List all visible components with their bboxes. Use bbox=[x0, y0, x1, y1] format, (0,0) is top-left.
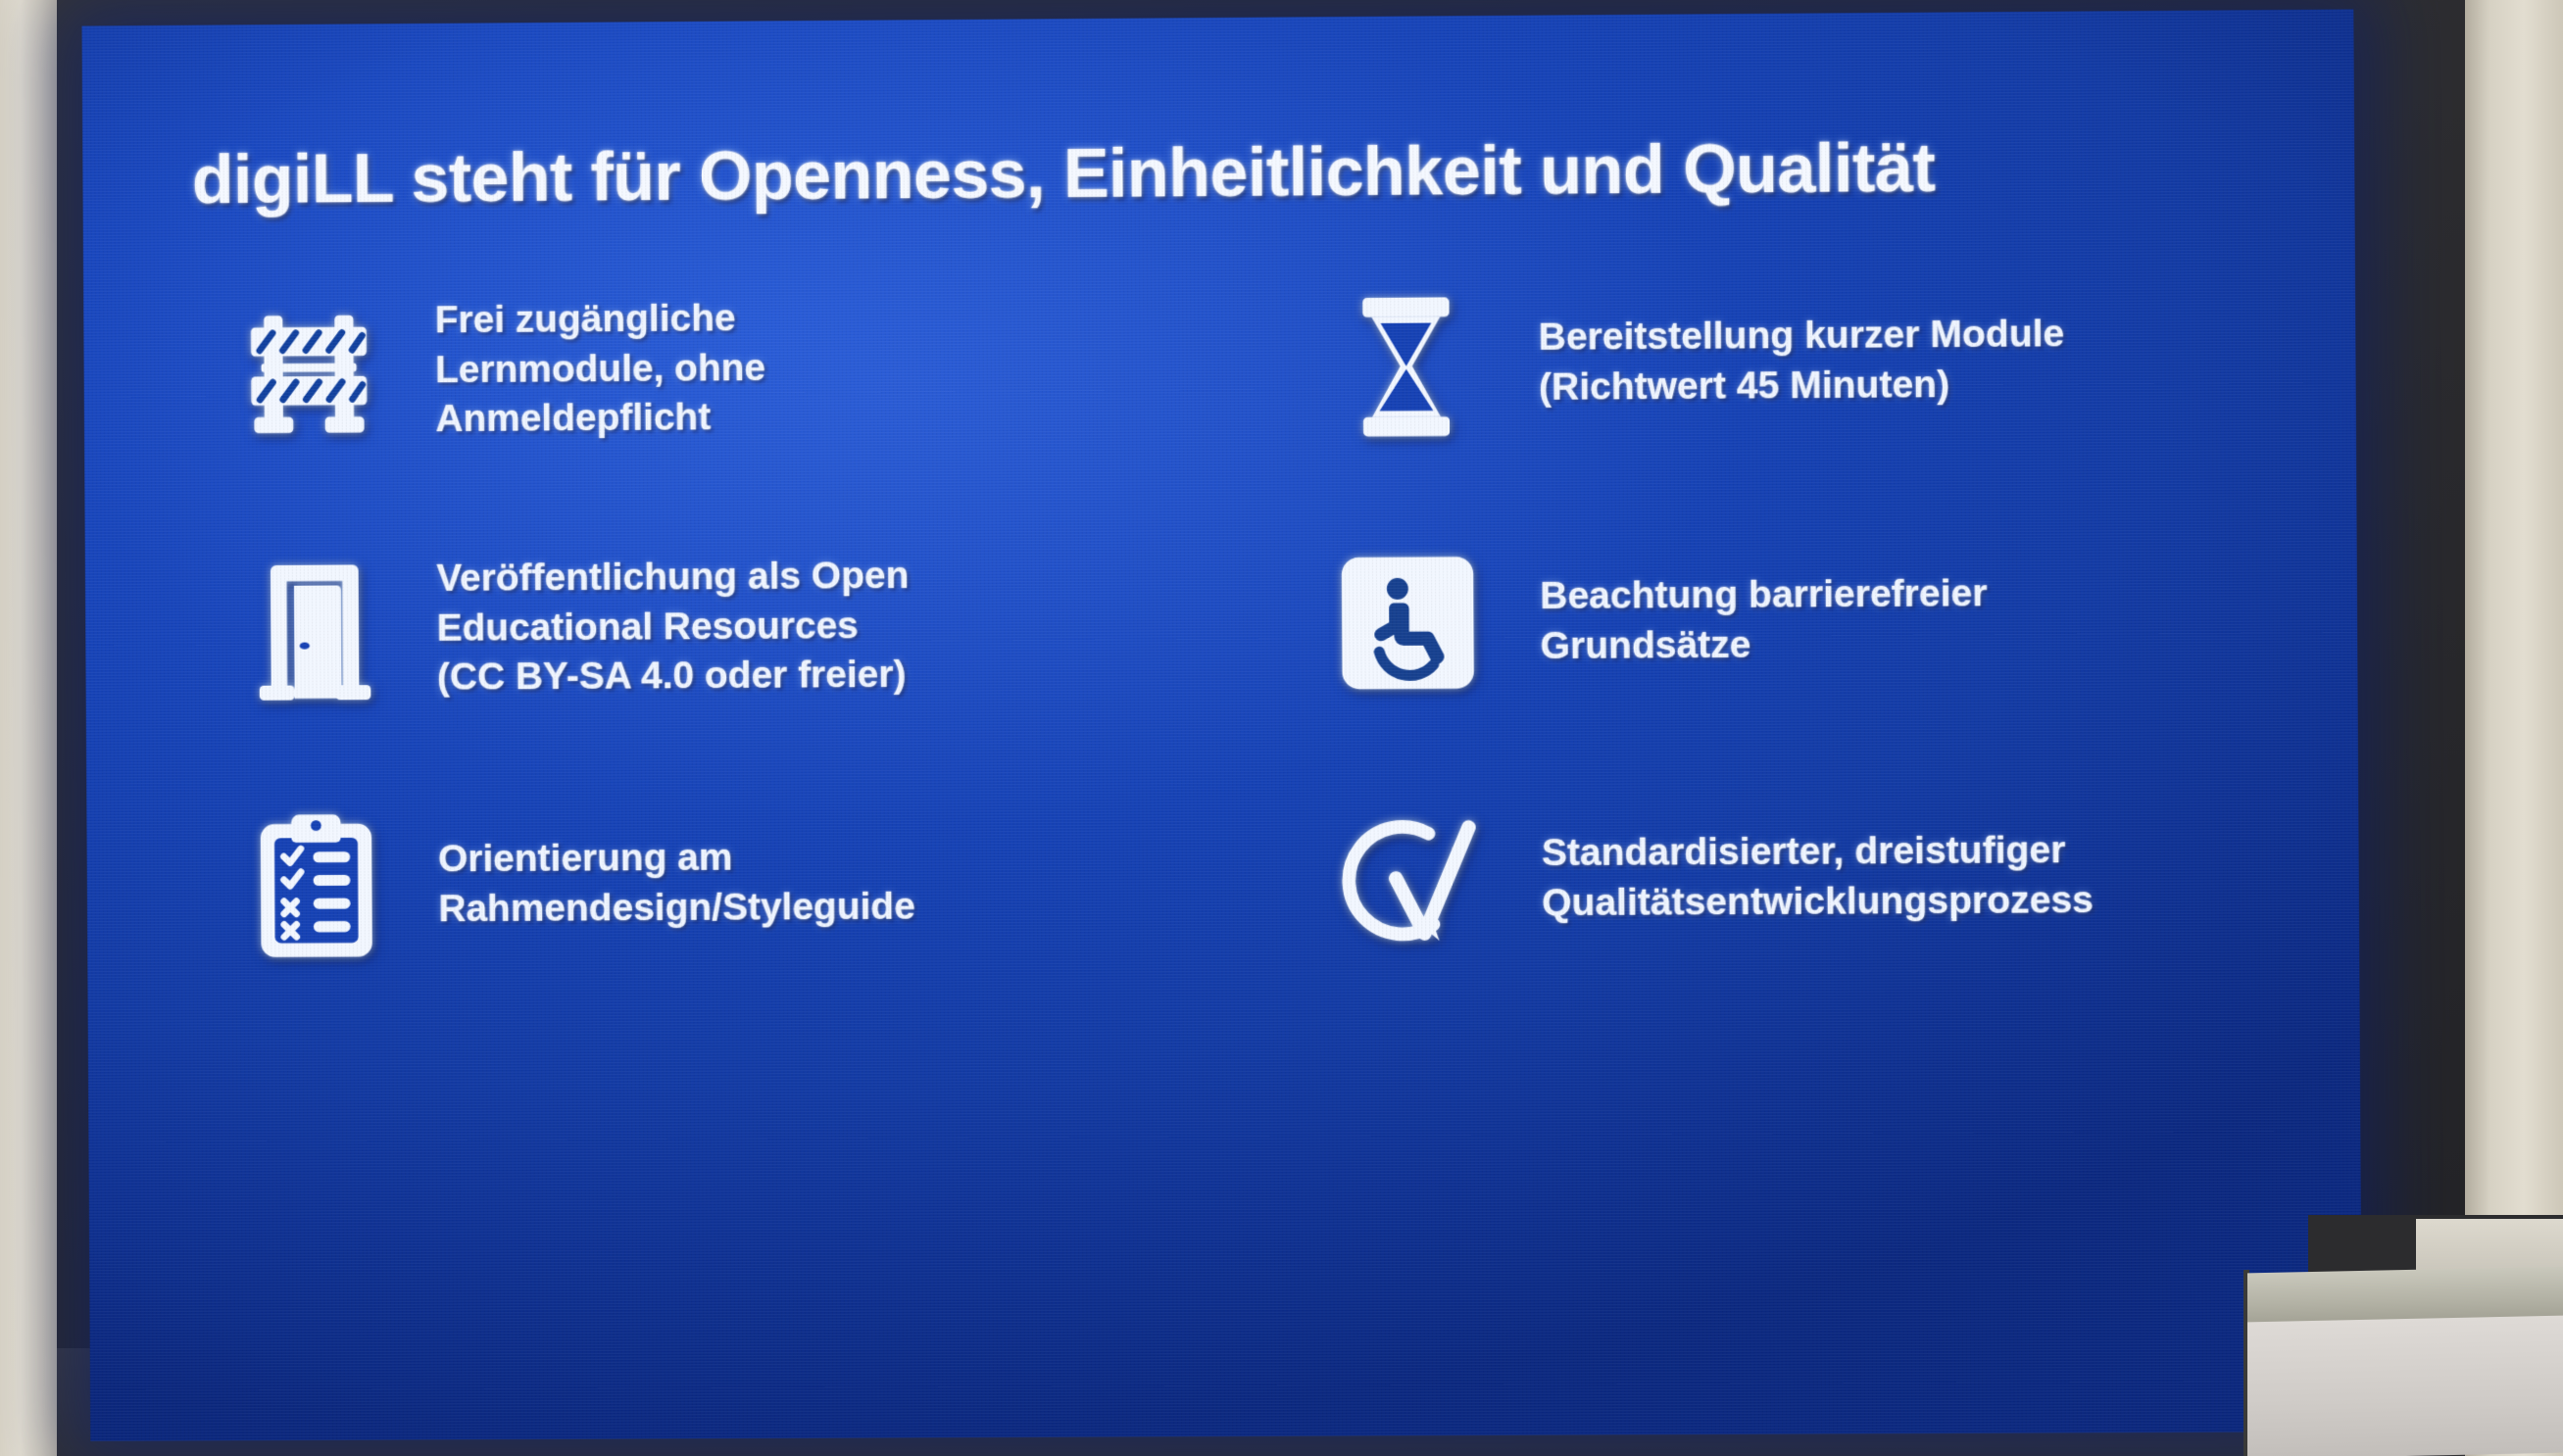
bullet-text: Orientierung am Rahmendesign/Styleguide bbox=[438, 831, 1214, 935]
clipboard-checklist-icon bbox=[194, 793, 439, 980]
bullet-item: Veröffentlichung als Open Educational Re… bbox=[192, 496, 1213, 758]
bullet-line: Veröffentlichung als Open bbox=[436, 550, 1212, 604]
bullet-item: Frei zugängliche Lernmodule, ohne Anmeld… bbox=[190, 239, 1211, 503]
flipchart-corner bbox=[2240, 1270, 2563, 1456]
open-door-icon bbox=[192, 536, 437, 723]
bullet-line: Anmeldepflicht bbox=[435, 390, 1211, 445]
bullet-line: (Richtwert 45 Minuten) bbox=[1539, 359, 2299, 413]
wheelchair-accessibility-icon bbox=[1275, 529, 1541, 717]
bullet-line: Grundsätze bbox=[1540, 617, 2300, 671]
bullet-text: Beachtung barrierefreier Grundsätze bbox=[1540, 568, 2300, 672]
bullet-line: (CC BY-SA 4.0 oder freier) bbox=[437, 649, 1213, 703]
bullet-text: Veröffentlichung als Open Educational Re… bbox=[436, 550, 1212, 704]
bullet-line: Beachtung barrierefreier bbox=[1540, 568, 2300, 622]
projected-slide: digiLL steht für Openness, Einheitlichke… bbox=[81, 9, 2362, 1440]
bullet-line: Rahmendesign/Styleguide bbox=[438, 881, 1214, 935]
bullet-text: Frei zugängliche Lernmodule, ohne Anmeld… bbox=[435, 291, 1211, 445]
bullet-line: Bereitstellung kurzer Module bbox=[1539, 309, 2299, 364]
bullet-item: Orientierung am Rahmendesign/Styleguide bbox=[194, 752, 1215, 1014]
bullet-line: Frei zugängliche bbox=[435, 291, 1211, 346]
photo-scene: digiLL steht für Openness, Einheitlichke… bbox=[0, 0, 2563, 1456]
bullet-text: Standardisierter, dreistufiger Qualitäts… bbox=[1542, 825, 2302, 929]
bullet-item: Standardisierter, dreistufiger Qualitäts… bbox=[1276, 747, 2302, 1009]
bullet-item: Beachtung barrierefreier Grundsätze bbox=[1274, 489, 2300, 752]
bullet-line: Standardisierter, dreistufiger bbox=[1542, 825, 2302, 879]
wall-left bbox=[0, 0, 59, 1456]
hourglass-icon bbox=[1273, 272, 1539, 461]
bullet-text: Bereitstellung kurzer Module (Richtwert … bbox=[1539, 309, 2299, 413]
bullet-line: Educational Resources bbox=[437, 600, 1213, 654]
bullet-line: Qualitätsentwicklungsprozess bbox=[1542, 875, 2302, 929]
cycle-checkmark-icon bbox=[1276, 786, 1542, 974]
bullet-line: Lernmodule, ohne bbox=[435, 341, 1211, 396]
bullet-grid: Frei zugängliche Lernmodule, ohne Anmeld… bbox=[190, 231, 2302, 1014]
construction-barrier-icon bbox=[191, 279, 436, 466]
bullet-line: Orientierung am bbox=[438, 831, 1214, 885]
bullet-item: Bereitstellung kurzer Module (Richtwert … bbox=[1273, 231, 2299, 495]
slide-title: digiLL steht für Openness, Einheitlichke… bbox=[192, 125, 2270, 218]
